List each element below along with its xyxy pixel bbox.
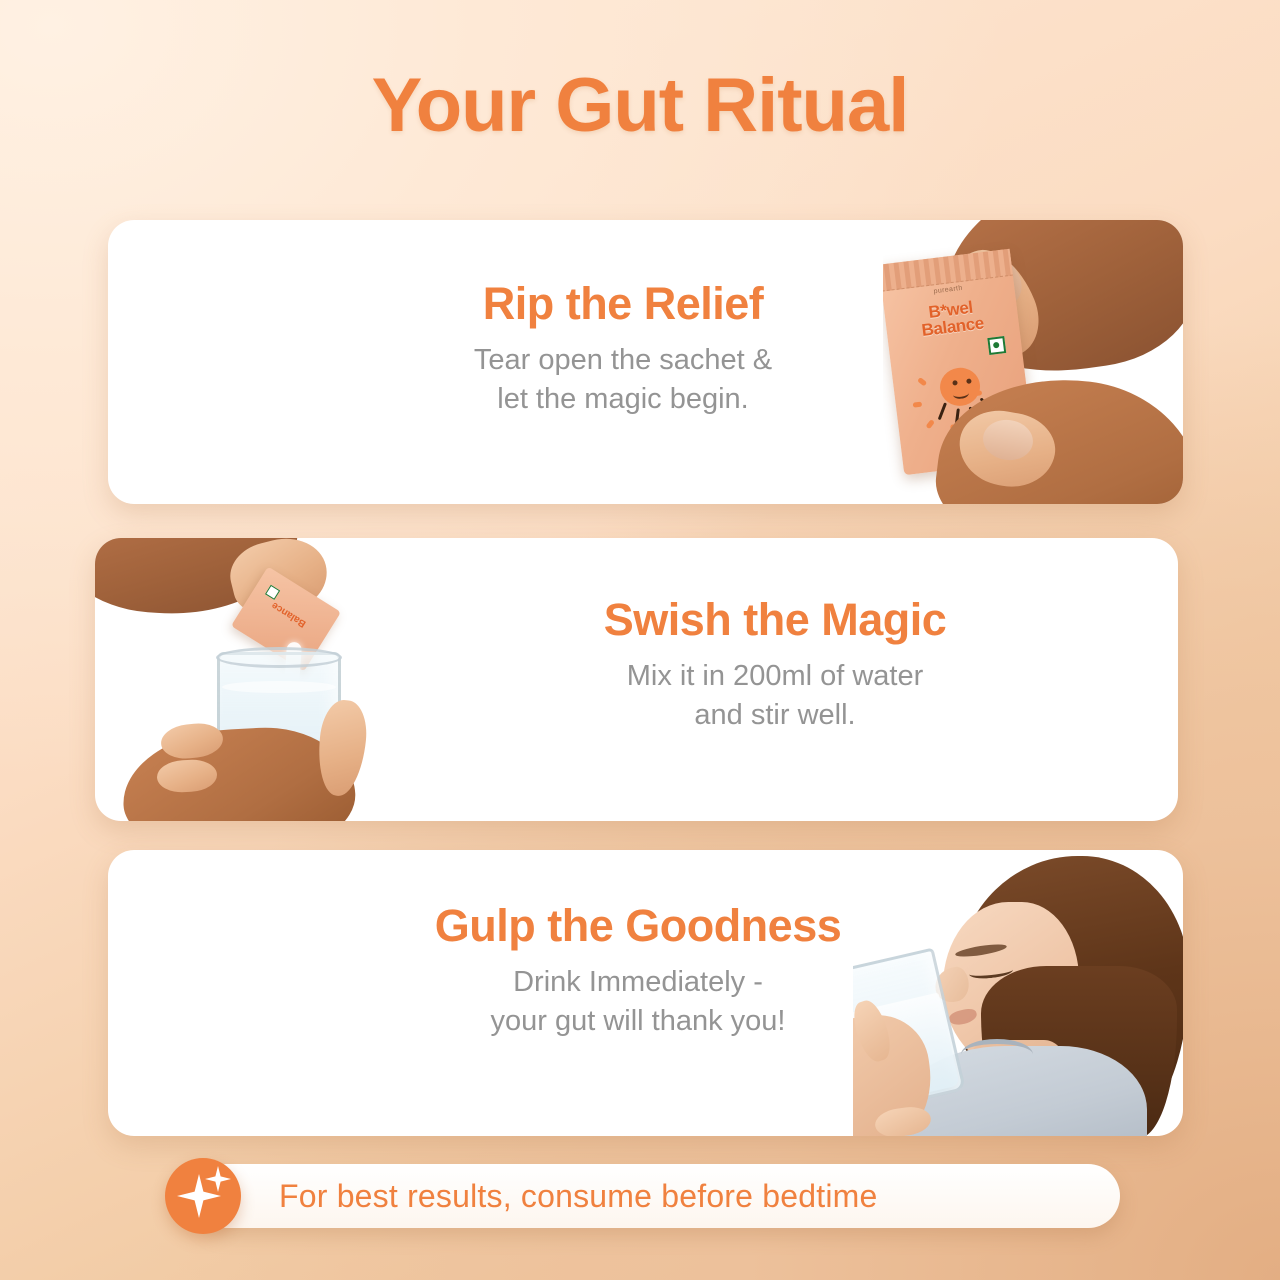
step-card-1: Rip the Relief Tear open the sachet & le… xyxy=(108,220,1183,504)
step-card-3: Gulp the Goodness Drink Immediately - yo… xyxy=(108,850,1183,1136)
step-2-image: Balance xyxy=(95,538,415,821)
step-1-description-line-2: let the magic begin. xyxy=(298,380,948,418)
step-card-2: Swish the Magic Mix it in 200ml of water… xyxy=(95,538,1178,821)
step-3-image xyxy=(853,850,1183,1136)
glass-rim xyxy=(216,647,342,668)
step-1-description-line-1: Tear open the sachet & xyxy=(298,341,948,379)
shirt-collar xyxy=(961,1039,1033,1070)
mascot-arm xyxy=(938,402,947,420)
step-1-image: purearth B*wel Balance xyxy=(883,220,1183,504)
step-2-heading: Swish the Magic xyxy=(395,596,1155,643)
step-1-text: Rip the Relief Tear open the sachet & le… xyxy=(298,280,948,418)
footer-note-text: For best results, consume before bedtime xyxy=(279,1164,1096,1228)
step-1-description: Tear open the sachet & let the magic beg… xyxy=(298,341,948,418)
mascot-ray xyxy=(925,419,934,429)
veg-mark-icon xyxy=(987,336,1006,355)
sparkle-star-small xyxy=(205,1166,231,1192)
mascot-ray xyxy=(973,390,983,396)
step-2-description: Mix it in 200ml of water and stir well. xyxy=(395,657,1155,734)
water-surface xyxy=(222,681,336,693)
sparkle-icon xyxy=(165,1158,241,1234)
page-title: Your Gut Ritual xyxy=(0,62,1280,149)
step-1-heading: Rip the Relief xyxy=(298,280,948,327)
step-2-text: Swish the Magic Mix it in 200ml of water… xyxy=(395,596,1155,734)
step-2-description-line-2: and stir well. xyxy=(395,696,1155,734)
infographic-root: Your Gut Ritual Rip the Relief Tear open… xyxy=(0,0,1280,1280)
mascot-ray xyxy=(917,377,927,386)
footer-note-banner: For best results, consume before bedtime xyxy=(195,1164,1120,1228)
mascot-ray xyxy=(913,402,923,408)
step-2-description-line-1: Mix it in 200ml of water xyxy=(395,657,1155,695)
